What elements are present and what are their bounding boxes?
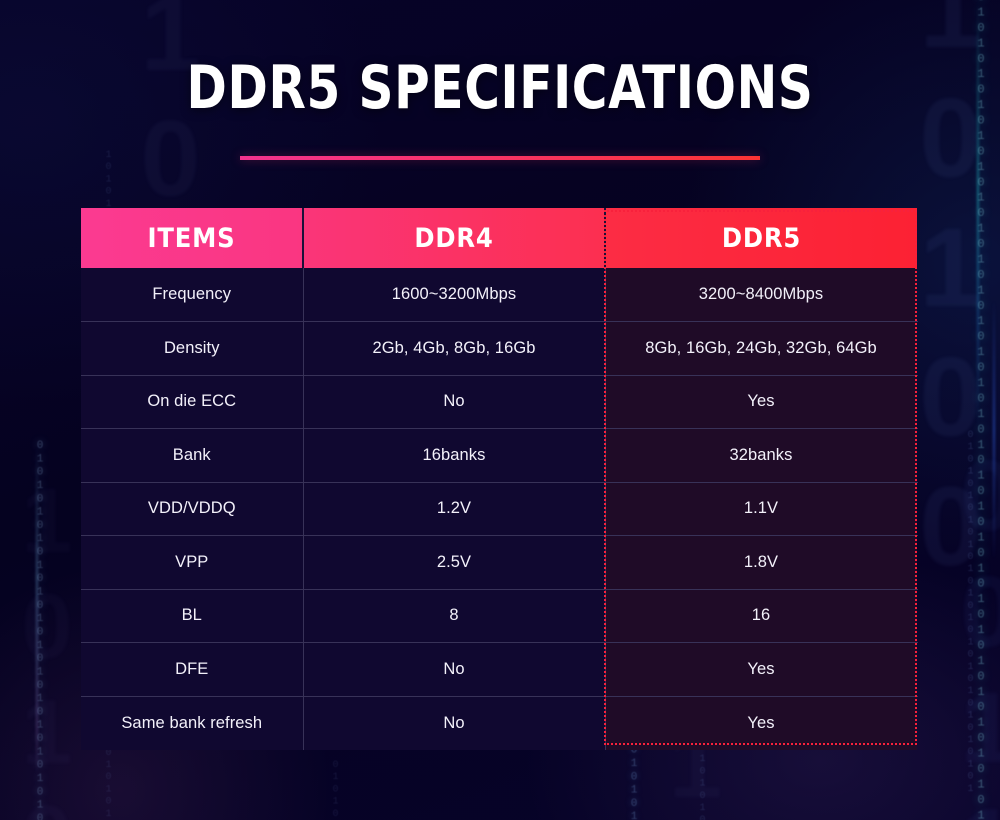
table-row: Bank16banks32banks: [81, 429, 917, 483]
table-row: Same bank refreshNoYes: [81, 696, 917, 750]
binary-code-strip: 0101010101010101010101010101010101010101…: [975, 0, 987, 820]
cell-item-label: Frequency: [81, 268, 303, 322]
cell-ddr5-value: Yes: [605, 696, 917, 750]
cell-item-label: DFE: [81, 643, 303, 697]
cell-ddr4-value: 1600~3200Mbps: [303, 268, 605, 322]
ddr-specifications-table: ITEMS DDR4 DDR5 Frequency1600~3200Mbps32…: [81, 208, 918, 750]
binary-code-strip: 010101010101010101010101010101: [965, 430, 975, 796]
cell-ddr4-value: 2Gb, 4Gb, 8Gb, 16Gb: [303, 322, 605, 376]
cell-ddr4-value: 16banks: [303, 429, 605, 483]
cell-ddr5-value: 16: [605, 589, 917, 643]
cell-ddr4-value: No: [303, 375, 605, 429]
column-header-ddr5: DDR5: [605, 208, 917, 268]
cell-ddr5-value: 1.1V: [605, 482, 917, 536]
glow-accent-line: [993, 300, 995, 560]
table-row: Density2Gb, 4Gb, 8Gb, 16Gb8Gb, 16Gb, 24G…: [81, 322, 917, 376]
cell-ddr4-value: No: [303, 643, 605, 697]
cell-ddr4-value: 8: [303, 589, 605, 643]
cell-item-label: Same bank refresh: [81, 696, 303, 750]
cell-item-label: VDD/VDDQ: [81, 482, 303, 536]
cell-ddr5-value: 32banks: [605, 429, 917, 483]
cell-item-label: On die ECC: [81, 375, 303, 429]
table-row: On die ECCNoYes: [81, 375, 917, 429]
binary-code-strip: 0101010101010101010101010101010101010101…: [34, 440, 45, 820]
table-row: VDD/VDDQ1.2V1.1V: [81, 482, 917, 536]
binary-code-strip: 0101010101010101: [330, 760, 340, 820]
binary-code-strip: 01010101010101: [697, 742, 707, 820]
cell-item-label: Density: [81, 322, 303, 376]
table-row: Frequency1600~3200Mbps3200~8400Mbps: [81, 268, 917, 322]
column-header-ddr4: DDR4: [303, 208, 605, 268]
cell-item-label: VPP: [81, 536, 303, 590]
cell-item-label: BL: [81, 589, 303, 643]
cell-ddr4-value: 1.2V: [303, 482, 605, 536]
table-row: BL816: [81, 589, 917, 643]
cell-item-label: Bank: [81, 429, 303, 483]
cell-ddr5-value: Yes: [605, 375, 917, 429]
cell-ddr4-value: No: [303, 696, 605, 750]
cell-ddr5-value: 3200~8400Mbps: [605, 268, 917, 322]
column-header-items: ITEMS: [81, 208, 303, 268]
page-title: DDR5 SPECIFICATIONS: [50, 58, 950, 118]
table-body: Frequency1600~3200Mbps3200~8400MbpsDensi…: [81, 268, 917, 750]
cell-ddr5-value: 8Gb, 16Gb, 24Gb, 32Gb, 64Gb: [605, 322, 917, 376]
slide-canvas: 10100 10100 01101 10101 00110 0101010101…: [0, 0, 1000, 820]
title-underline-rule: [240, 156, 760, 160]
table-row: DFENoYes: [81, 643, 917, 697]
cell-ddr4-value: 2.5V: [303, 536, 605, 590]
table-row: VPP2.5V1.8V: [81, 536, 917, 590]
title-block: DDR5 SPECIFICATIONS: [0, 58, 1000, 118]
table-header-row: ITEMS DDR4 DDR5: [81, 208, 917, 268]
cell-ddr5-value: Yes: [605, 643, 917, 697]
cell-ddr5-value: 1.8V: [605, 536, 917, 590]
